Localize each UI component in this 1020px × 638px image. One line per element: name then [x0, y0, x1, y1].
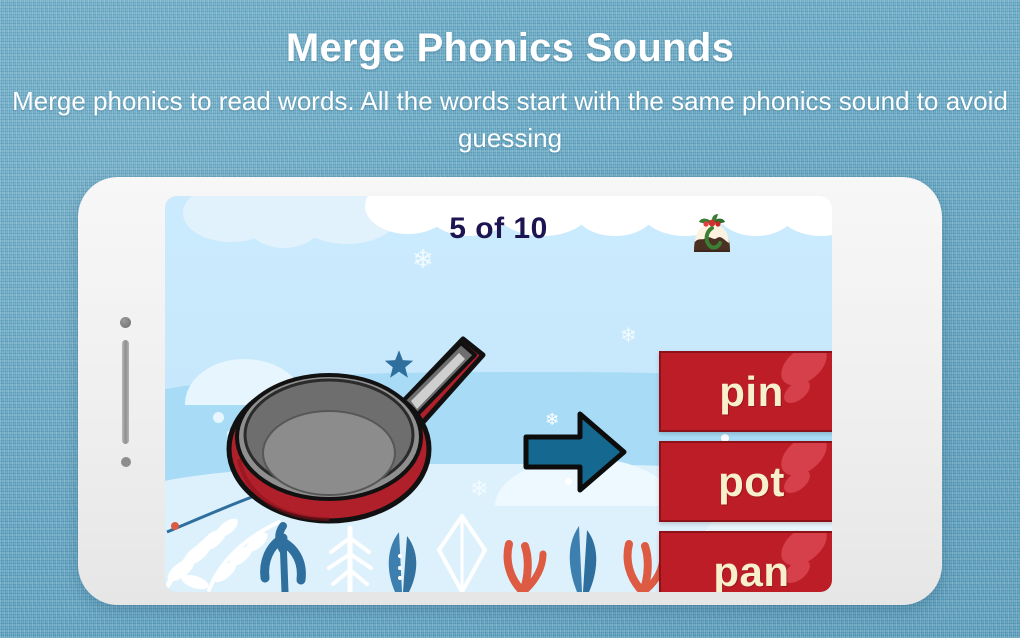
word-card-label: pot — [718, 458, 785, 506]
page-title: Merge Phonics Sounds — [0, 26, 1020, 71]
word-card-label: pin — [719, 368, 783, 416]
snowflake-icon: ❄ — [620, 326, 637, 346]
phone-mockup: ❄ ❄ ❄ ❄ — [78, 177, 942, 605]
red-sprig-icon — [495, 532, 551, 592]
page-subtitle: Merge phonics to read words. All the wor… — [0, 83, 1020, 157]
frying-pan-illustration — [225, 331, 505, 541]
blue-leaf-icon — [553, 518, 611, 592]
right-arrow-icon — [520, 406, 630, 498]
phone-power-button[interactable] — [121, 457, 131, 467]
phone-volume-rocker[interactable] — [122, 340, 129, 444]
christmas-pudding-icon[interactable] — [690, 212, 734, 256]
word-card-label: pan — [713, 548, 789, 593]
snowflake-icon: ❄ — [412, 246, 434, 272]
header: Merge Phonics Sounds Merge phonics to re… — [0, 0, 1020, 157]
phone-screen: ❄ ❄ ❄ ❄ — [165, 196, 832, 592]
word-card-pot[interactable]: pot — [659, 441, 832, 522]
word-card-pin[interactable]: pin — [659, 351, 832, 432]
bubble-dot — [213, 412, 224, 423]
word-card-list: pin pot pan — [659, 351, 832, 592]
phone-volume-up-button[interactable] — [120, 317, 131, 328]
word-card-pan[interactable]: pan — [659, 531, 832, 592]
